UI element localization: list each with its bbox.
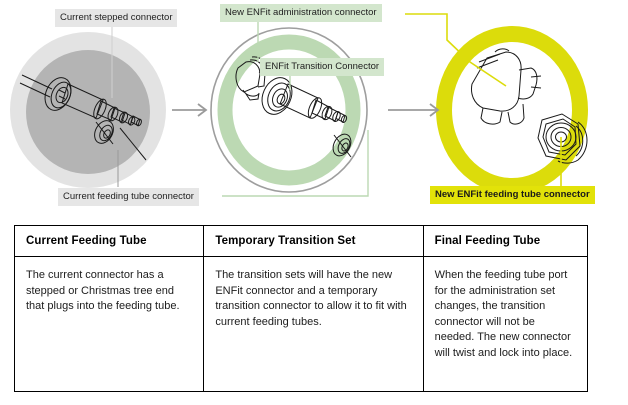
- arrow-2: [388, 104, 438, 116]
- green-outer-outline: [211, 28, 367, 192]
- arrow-1: [172, 104, 206, 116]
- new-enfit-admin-connector-illustration: [471, 49, 541, 124]
- enfit-transition-connector-illustration: [256, 73, 347, 123]
- label-new-enfit-administration-connector: New ENFit administration connector: [220, 4, 382, 22]
- column-header: Current Feeding Tube: [15, 226, 203, 257]
- column-body-text: The current connector has a stepped or C…: [15, 257, 203, 391]
- page-root: Current stepped connector Current feedin…: [0, 0, 628, 405]
- label-enfit-transition-connector: ENFit Transition Connector: [260, 58, 384, 76]
- connector-transition-diagram: Current stepped connector Current feedin…: [0, 0, 628, 215]
- gray-inner-disc: [26, 50, 150, 174]
- table-column-current-feeding-tube: Current Feeding Tube The current connect…: [15, 226, 204, 391]
- label-new-enfit-feeding-tube-connector: New ENFit feeding tube connector: [430, 186, 595, 204]
- column-body-text: The transition sets will have the new EN…: [204, 257, 422, 391]
- table-column-final-feeding-tube: Final Feeding Tube When the feeding tube…: [424, 226, 587, 391]
- label-current-stepped-connector: Current stepped connector: [55, 9, 177, 27]
- column-header: Temporary Transition Set: [204, 226, 422, 257]
- table-column-temporary-transition-set: Temporary Transition Set The transition …: [204, 226, 423, 391]
- diagram-canvas: [0, 0, 628, 215]
- stage-transition-set: [211, 28, 367, 192]
- comparison-table: Current Feeding Tube The current connect…: [14, 225, 588, 392]
- column-body-text: When the feeding tube port for the admin…: [424, 257, 587, 391]
- column-header: Final Feeding Tube: [424, 226, 587, 257]
- label-current-feeding-tube-connector: Current feeding tube connector: [58, 188, 199, 206]
- stage-current-feeding-tube: [10, 32, 166, 188]
